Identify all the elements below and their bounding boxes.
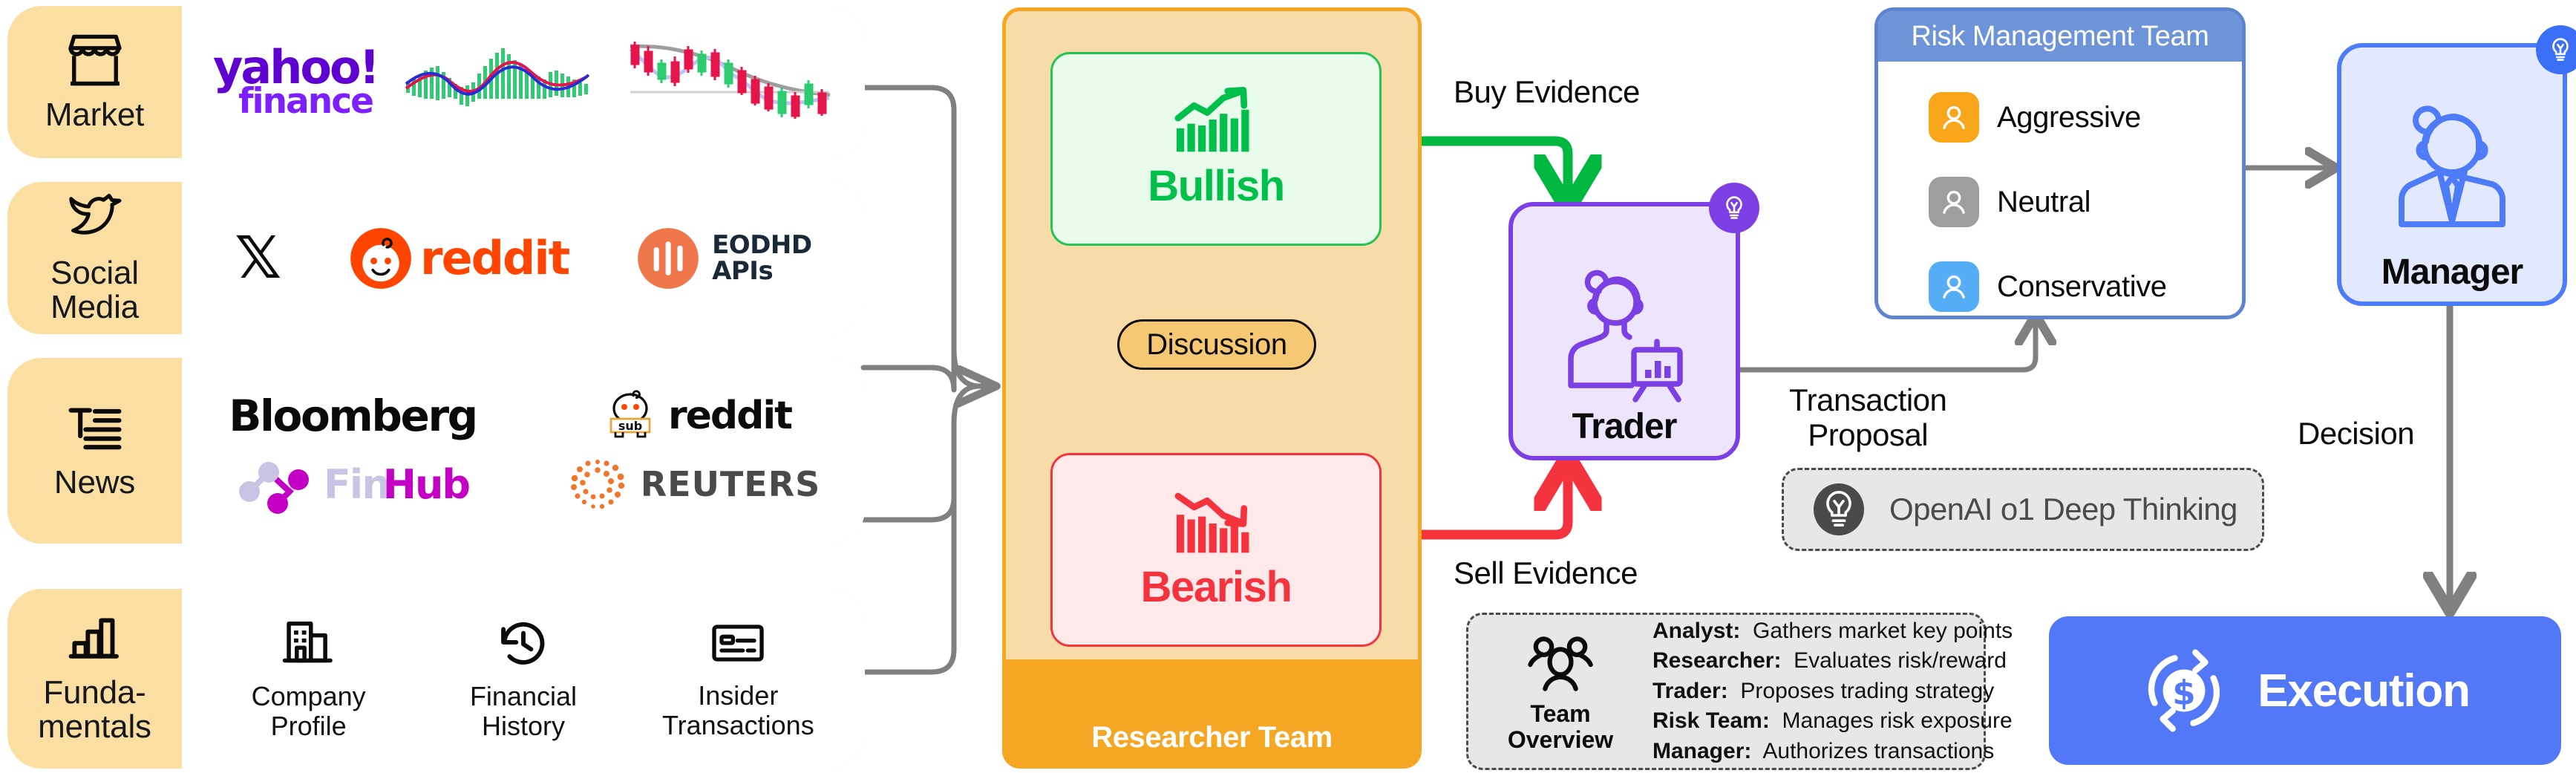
team-overview-legend: Team Overview Analyst: Gathers market ke… xyxy=(1466,613,1986,770)
dollar-refresh-icon: $ xyxy=(2140,647,2228,734)
transaction-card-icon xyxy=(708,617,768,669)
bearish-card[interactable]: Bearish xyxy=(1050,453,1382,647)
overview-role: Analyst: xyxy=(1653,619,1740,643)
risk-team-members: Aggressive Neutral xyxy=(1878,62,2242,319)
overview-row: Analyst: Gathers market key points xyxy=(1653,618,2013,645)
manager-label: Manager xyxy=(2382,252,2523,293)
overview-desc: Manages risk exposure xyxy=(1782,708,2013,733)
researcher-team-footer-label: Researcher Team xyxy=(1006,721,1418,754)
financial-history-caption: FinancialHistory xyxy=(470,682,577,742)
reuters-dots-icon xyxy=(568,454,627,514)
subreddit-mascot-icon: sub xyxy=(597,388,664,444)
aggressive-label: Aggressive xyxy=(1997,101,2141,134)
storefront-icon xyxy=(63,33,127,88)
overview-role: Researcher: xyxy=(1653,648,1781,673)
finhub-logo: FinHub xyxy=(236,454,469,514)
article-icon xyxy=(65,402,125,455)
deep-thinking-label: OpenAI o1 Deep Thinking xyxy=(1889,492,2237,527)
trending-down-bars-icon xyxy=(1172,488,1260,559)
overview-desc: Gathers market key points xyxy=(1753,619,2013,643)
deep-thinking-badge: OpenAI o1 Deep Thinking xyxy=(1782,468,2264,551)
lightbulb-icon xyxy=(2546,35,2575,65)
source-tag-news: News xyxy=(7,358,182,544)
person-avatar-icon xyxy=(1937,100,1971,134)
trader-label: Trader xyxy=(1572,406,1677,447)
diagram-canvas: Market yahoo! finance xyxy=(0,0,2576,776)
source-label-fundamentals: Funda-mentals xyxy=(38,676,151,744)
discussion-pill[interactable]: Discussion xyxy=(1117,319,1316,370)
overview-role: Manager: xyxy=(1653,739,1751,763)
edge-label-decision: Decision xyxy=(2298,416,2414,451)
discussion-label: Discussion xyxy=(1146,328,1287,362)
source-label-market: Market xyxy=(45,98,144,132)
svg-text:sub: sub xyxy=(618,419,642,433)
edge-label-sell-evidence: Sell Evidence xyxy=(1454,555,1638,590)
neutral-label: Neutral xyxy=(1997,186,2090,219)
aggressive-avatar-swatch xyxy=(1929,92,1979,143)
manager-suit-person-icon xyxy=(2378,99,2526,255)
source-label-social-media: SocialMedia xyxy=(50,256,139,325)
trending-up-bars-icon xyxy=(1172,87,1260,158)
source-tag-social-media: SocialMedia xyxy=(7,182,182,334)
team-overview-caption-block: Team Overview xyxy=(1486,630,1635,753)
overview-desc: Authorizes transactions xyxy=(1762,739,1994,763)
execution-label: Execution xyxy=(2258,665,2470,717)
source-row-social-media[interactable]: SocialMedia 𝕏 reddit xyxy=(7,182,865,334)
bullish-label: Bullish xyxy=(1148,161,1284,211)
overview-role: Trader: xyxy=(1653,679,1728,703)
svg-text:$: $ xyxy=(2173,674,2196,713)
edge-label-transaction-proposal: Transaction Proposal xyxy=(1789,382,1946,452)
source-tag-fundamentals: Funda-mentals xyxy=(7,589,182,769)
financial-history-item[interactable]: FinancialHistory xyxy=(423,616,624,742)
insider-transactions-item[interactable]: InsiderTransactions xyxy=(638,617,838,741)
reddit-mascot-icon xyxy=(349,226,413,290)
risk-team-title: Risk Management Team xyxy=(1878,11,2242,62)
conservative-avatar-swatch xyxy=(1929,261,1979,312)
manager-lightbulb-badge xyxy=(2536,25,2576,74)
team-overview-caption: Team Overview xyxy=(1508,701,1613,753)
source-row-news[interactable]: News Bloomberg sub xyxy=(7,358,865,544)
overview-row: Trader: Proposes trading strategy xyxy=(1653,678,2013,705)
edge-label-buy-evidence: Buy Evidence xyxy=(1454,74,1640,109)
bar-chart-icon xyxy=(67,613,123,665)
source-tag-market: Market xyxy=(7,6,182,158)
source-items-news: Bloomberg sub reddit xyxy=(182,358,865,544)
source-label-news: News xyxy=(54,466,135,500)
source-items-market: yahoo! finance xyxy=(182,6,865,158)
bird-icon xyxy=(63,192,127,246)
risk-member-conservative[interactable]: Conservative xyxy=(1878,261,2242,312)
overview-role: Risk Team: xyxy=(1653,708,1770,733)
lightbulb-filled-icon xyxy=(1811,481,1867,538)
office-building-icon xyxy=(281,616,337,670)
people-group-icon xyxy=(1525,630,1596,694)
volume-oscillator-chart xyxy=(402,38,602,127)
reuters-logo: REUTERS xyxy=(568,454,821,514)
bloomberg-logo: Bloomberg xyxy=(229,391,477,441)
bearish-label: Bearish xyxy=(1141,562,1292,612)
yahoo-finance-logo: yahoo! finance xyxy=(213,48,378,117)
overview-row: Manager: Authorizes transactions xyxy=(1653,738,2013,766)
person-avatar-icon xyxy=(1937,270,1971,304)
company-profile-caption: CompanyProfile xyxy=(252,682,366,742)
bullish-card[interactable]: Bullish xyxy=(1050,52,1382,246)
overview-row: Researcher: Evaluates risk/reward xyxy=(1653,648,2013,675)
trader-card[interactable]: Trader xyxy=(1508,202,1740,460)
overview-row: Risk Team: Manages risk exposure xyxy=(1653,708,2013,735)
trader-person-presentation-icon xyxy=(1554,262,1695,411)
source-items-social-media: 𝕏 reddit xyxy=(182,182,865,334)
eodhd-mark-icon xyxy=(636,226,700,290)
researcher-team-panel: Bullish Discussion Bearish Researcher Te… xyxy=(1002,7,1422,769)
risk-member-neutral[interactable]: Neutral xyxy=(1878,177,2242,227)
company-profile-item[interactable]: CompanyProfile xyxy=(209,616,409,742)
source-row-market[interactable]: Market yahoo! finance xyxy=(7,6,865,158)
conservative-label: Conservative xyxy=(1997,270,2167,304)
insider-transactions-caption: InsiderTransactions xyxy=(662,681,814,741)
manager-card[interactable]: Manager xyxy=(2337,43,2567,306)
execution-card[interactable]: $ Execution xyxy=(2049,616,2561,765)
overview-desc: Proposes trading strategy xyxy=(1740,679,1994,703)
risk-member-aggressive[interactable]: Aggressive xyxy=(1878,92,2242,143)
subreddit-logo: sub reddit xyxy=(597,388,791,444)
source-items-fundamentals: CompanyProfile FinancialHistory xyxy=(182,589,865,769)
x-logo: 𝕏 xyxy=(235,229,281,287)
neutral-avatar-swatch xyxy=(1929,177,1979,227)
eodhd-apis-logo: EODHDAPIs xyxy=(636,226,812,290)
risk-management-team-panel: Risk Management Team Aggressive xyxy=(1874,7,2246,319)
candlestick-chart xyxy=(626,34,834,131)
team-overview-rows: Analyst: Gathers market key points Resea… xyxy=(1653,618,2013,766)
finhub-mark-icon xyxy=(236,454,313,514)
trader-lightbulb-badge xyxy=(1709,183,1759,233)
person-avatar-icon xyxy=(1937,185,1971,219)
source-row-fundamentals[interactable]: Funda-mentals CompanyProfile xyxy=(7,589,865,769)
lightbulb-icon xyxy=(1719,193,1749,223)
overview-desc: Evaluates risk/reward xyxy=(1794,648,2007,673)
history-clock-icon xyxy=(495,616,552,670)
reddit-logo: reddit xyxy=(349,226,569,290)
